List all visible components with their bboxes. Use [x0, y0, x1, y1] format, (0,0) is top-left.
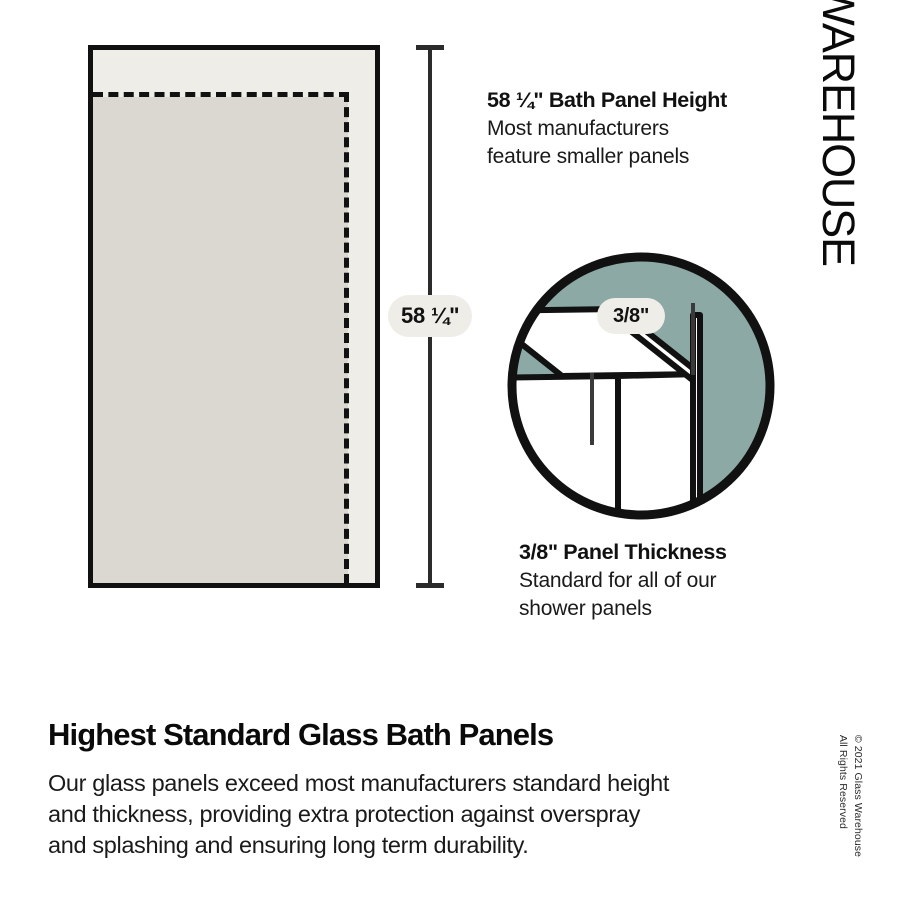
brand-wordmark-text: GLASSWAREHOUSE	[816, 0, 861, 266]
callout-bath-panel-height: 58 ¼" Bath Panel Height Most manufacture…	[487, 88, 727, 171]
height-dimension-badge: 58 ¼"	[388, 295, 472, 337]
copyright-line-1: © 2021 Glass Warehouse	[850, 735, 865, 857]
thickness-measurement-badge: 3/8"	[597, 298, 665, 334]
page-headline: Highest Standard Glass Bath Panels	[48, 718, 788, 752]
callout-thickness-title: 3/8" Panel Thickness	[519, 540, 727, 565]
body-line-3: and splashing and ensuring long term dur…	[48, 830, 788, 861]
brand-wordmark: GLASSWAREHOUSE	[806, 30, 870, 530]
infographic-canvas: 58 ¼" 58 ¼" Bath Panel Height Most manuf…	[0, 0, 900, 900]
bath-panel-diagram	[88, 45, 380, 588]
callout-panel-thickness: 3/8" Panel Thickness Standard for all of…	[519, 540, 727, 623]
body-line-1: Our glass panels exceed most manufacture…	[48, 768, 788, 799]
bath-panel-inner-fill	[93, 97, 348, 583]
callout-height-line-2: feature smaller panels	[487, 143, 727, 171]
copyright-line-2: All Rights Reserved	[835, 735, 850, 857]
panel-thickness-diagram	[500, 245, 782, 527]
body-line-2: and thickness, providing extra protectio…	[48, 799, 788, 830]
callout-thickness-line-1: Standard for all of our	[519, 567, 727, 595]
dimension-line-cap-bottom	[416, 583, 444, 588]
bottom-text-block: Highest Standard Glass Bath Panels Our g…	[48, 718, 788, 861]
thickness-illustration-svg	[500, 245, 782, 527]
callout-height-title: 58 ¼" Bath Panel Height	[487, 88, 727, 113]
copyright-notice: © 2021 Glass Warehouse All Rights Reserv…	[828, 712, 872, 880]
dimension-line-cap-top	[416, 45, 444, 50]
callout-thickness-line-2: shower panels	[519, 595, 727, 623]
callout-height-line-1: Most manufacturers	[487, 115, 727, 143]
